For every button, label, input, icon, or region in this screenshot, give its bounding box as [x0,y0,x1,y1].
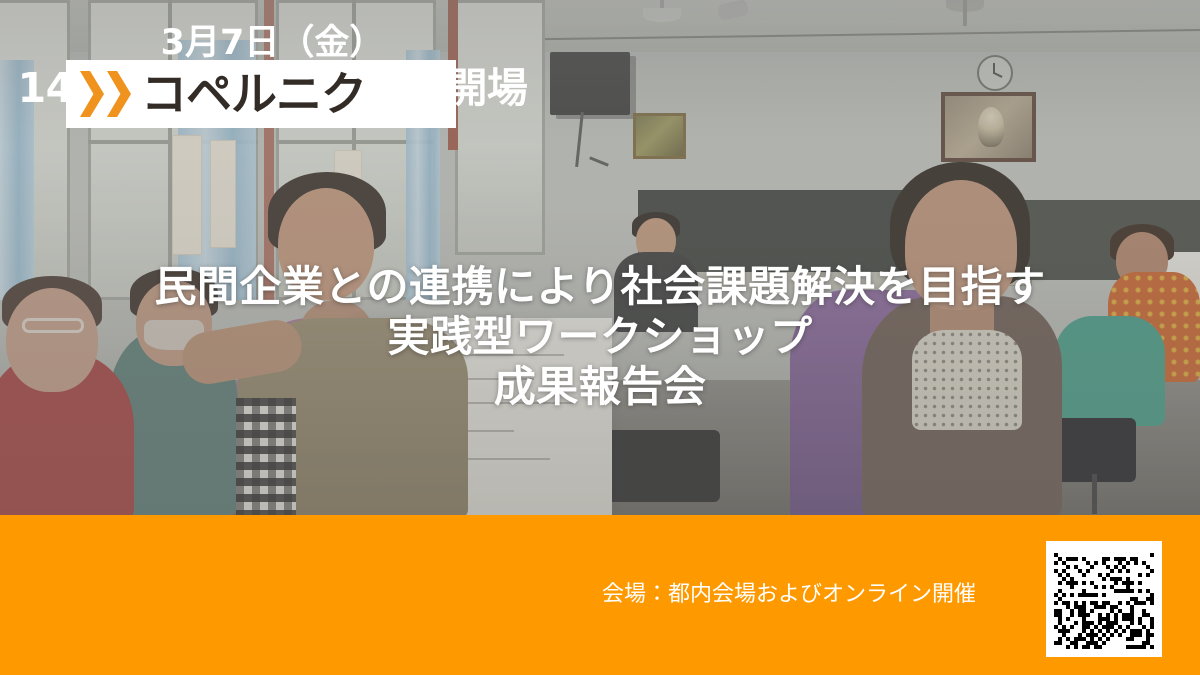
eyeglasses-icon [22,318,84,333]
wall-clock-icon [977,55,1013,91]
event-date: 3月7日（金） [0,22,545,64]
person-head [6,288,98,392]
qr-code[interactable] [1046,541,1162,657]
person-head [905,180,1017,310]
venue-text: 会場：都内会場およびオンライン開催 [556,580,1022,610]
pendant-light-icon [643,8,681,22]
qr-code-matrix [1054,549,1154,649]
hanging-paper [172,135,202,255]
person-garment-pattern [912,330,1022,430]
double-chevron-right-icon [80,71,131,117]
ceiling-speaker-icon [550,52,630,115]
event-banner: コペルニク 民間企業との連携により社会課題解決を目指す 実践型ワークショップ 成… [0,0,1200,675]
hanging-paper [210,140,236,248]
framed-picture [633,113,686,159]
person-body [1055,316,1165,426]
chair-leg [1092,474,1097,514]
logo-wordmark: コペルニク [141,71,366,117]
kopernik-logo[interactable]: コペルニク [66,60,456,128]
person-head [278,188,374,300]
chair [600,430,720,502]
person-garment-pattern [236,398,296,515]
framed-portrait [941,92,1036,162]
person-body [614,252,698,332]
ceiling-fan-rod [963,0,967,26]
